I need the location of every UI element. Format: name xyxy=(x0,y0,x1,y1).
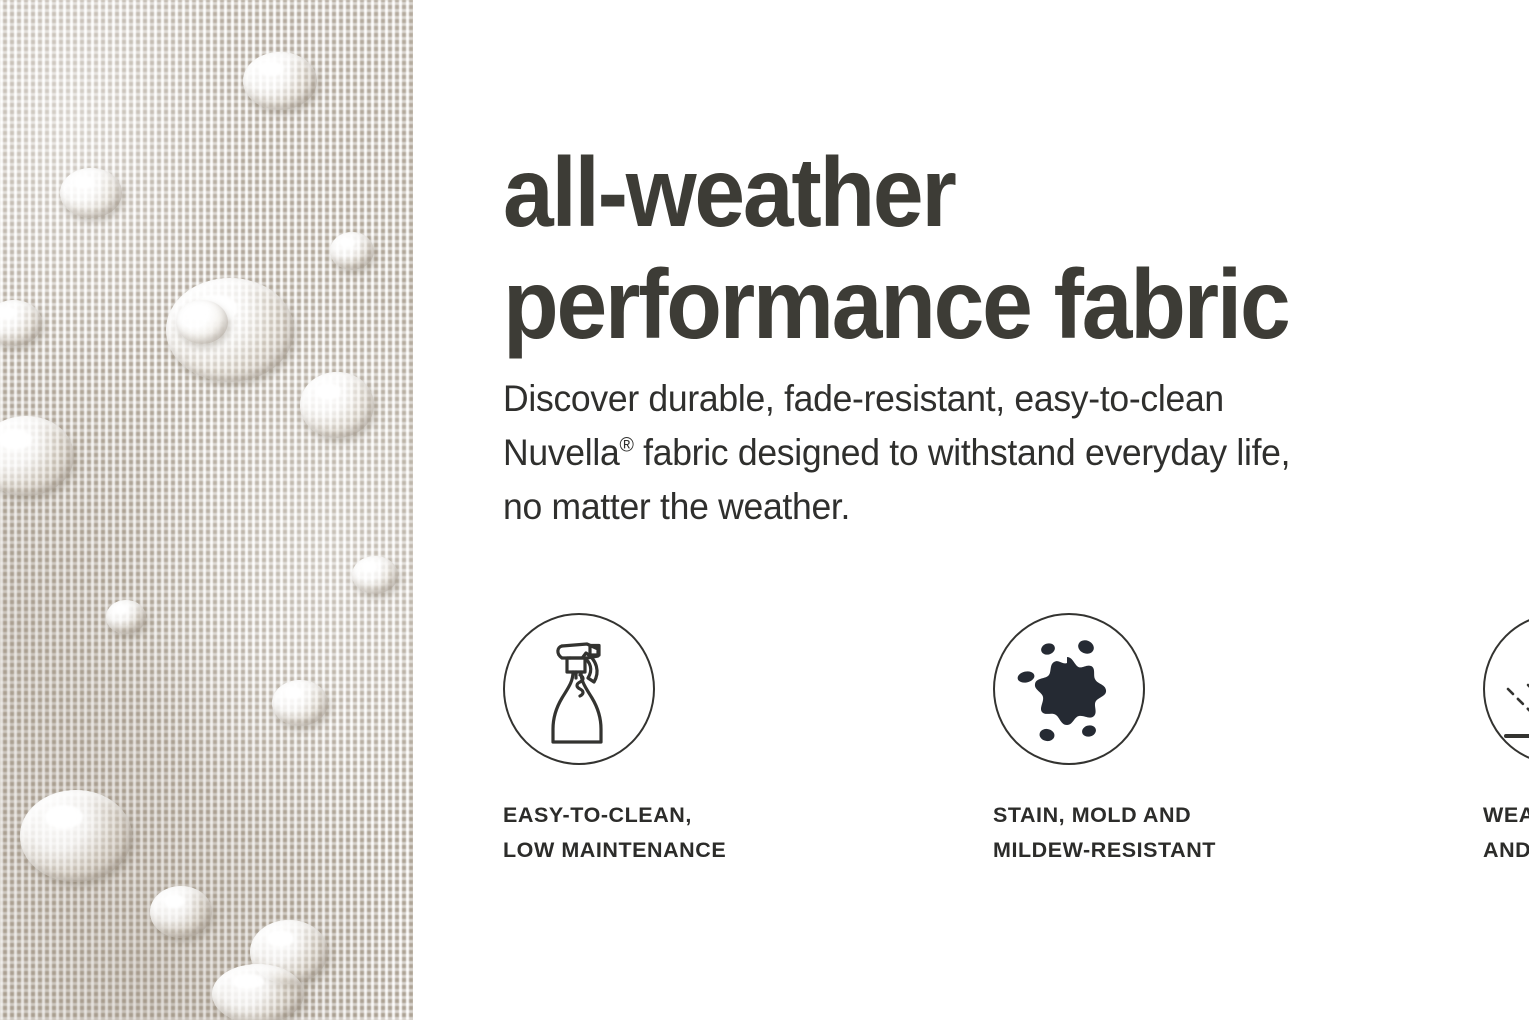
feature-list: EASY-TO-CLEAN, LOW MAINTENANCE STAIN, MO… xyxy=(503,613,1529,868)
registered-trademark-icon: ® xyxy=(619,435,633,457)
water-droplet xyxy=(176,300,228,344)
feature-caption: WEATHER, UV AND FADE-RESISTANT xyxy=(1483,765,1529,868)
water-droplet xyxy=(0,416,74,496)
water-droplet xyxy=(0,300,42,346)
water-droplets-group xyxy=(0,0,413,1020)
water-droplet xyxy=(243,52,317,110)
water-droplet xyxy=(106,600,146,634)
feature-item-uv-fade-resistant: WEATHER, UV AND FADE-RESISTANT xyxy=(1483,613,1529,868)
fabric-photo-panel xyxy=(0,0,413,1020)
subcopy-line-2-rest: fabric designed to withstand everyday li… xyxy=(634,432,1291,473)
water-droplet xyxy=(150,886,212,938)
subcopy-line-1: Discover durable, fade-resistant, easy-t… xyxy=(503,378,1224,419)
water-droplet xyxy=(60,168,122,218)
all-weather-fabric-banner: all-weather performance fabric Discover … xyxy=(0,0,1529,1020)
spray-bottle-icon xyxy=(503,613,655,765)
water-droplet xyxy=(212,964,304,1020)
water-droplet xyxy=(272,680,328,726)
feature-item-stain-resistant: STAIN, MOLD AND MILDEW-RESISTANT xyxy=(993,613,1293,868)
water-droplet xyxy=(300,372,374,438)
page-title: all-weather performance fabric xyxy=(503,136,1288,360)
water-droplet xyxy=(20,790,132,882)
sun-uv-reflect-icon xyxy=(1483,613,1529,765)
feature-caption: STAIN, MOLD AND MILDEW-RESISTANT xyxy=(993,765,1293,868)
feature-caption: EASY-TO-CLEAN, LOW MAINTENANCE xyxy=(503,765,803,868)
subcopy-line-3: no matter the weather. xyxy=(503,486,850,527)
subcopy-brand-name: Nuvella xyxy=(503,432,619,473)
subcopy-paragraph: Discover durable, fade-resistant, easy-t… xyxy=(503,372,1425,534)
water-droplet xyxy=(330,232,374,270)
water-droplet xyxy=(352,556,398,594)
ink-splat-icon xyxy=(993,613,1145,765)
feature-item-easy-to-clean: EASY-TO-CLEAN, LOW MAINTENANCE xyxy=(503,613,803,868)
content-panel: all-weather performance fabric Discover … xyxy=(413,0,1529,1020)
